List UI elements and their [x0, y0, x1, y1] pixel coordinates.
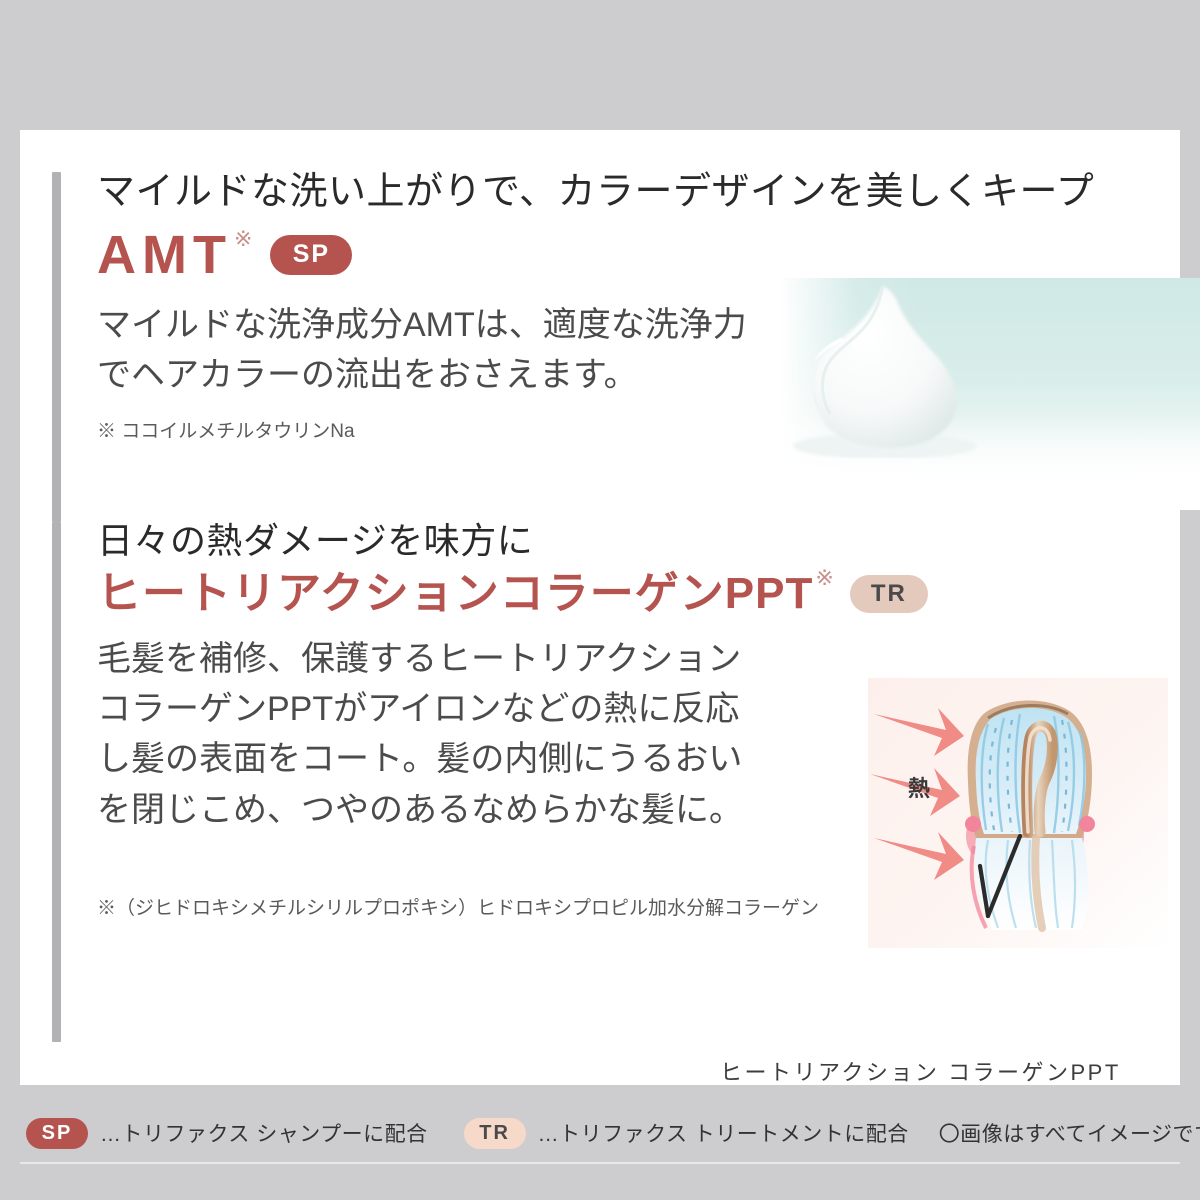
section-heat: 日々の熱ダメージを味方に ヒートリアクションコラーゲンPPT ※ TR 毛髪を補…: [52, 522, 1162, 1047]
body-line: を閉じこめ、つやのあるなめらかな髪に。: [97, 785, 1162, 835]
footer-legend: SP …トリファクス シャンプーに配合 TR …トリファクス トリートメントに配…: [0, 1105, 1200, 1161]
page-root: マイルドな洗い上がりで、カラーデザインを美しくキープ AMT ※ SP マイルド…: [0, 0, 1200, 1200]
section-accent-bar: [52, 522, 61, 1042]
content-card: マイルドな洗い上がりで、カラーデザインを美しくキープ AMT ※ SP マイルド…: [20, 130, 1180, 1085]
legend-item-sp: SP …トリファクス シャンプーに配合: [0, 1118, 428, 1149]
badge-tr-small: TR: [464, 1118, 526, 1149]
badge-tr: TR: [850, 575, 928, 613]
footer-note: 〇画像はすべてイメージです: [939, 1118, 1200, 1148]
section-heat-eyebrow: 日々の熱ダメージを味方に: [97, 522, 1162, 562]
legend-text-sp: …トリファクス シャンプーに配合: [100, 1118, 428, 1148]
hair-diagram-caption: ヒートリアクション コラーゲンPPT: [720, 1055, 1121, 1087]
section-heat-title-row: ヒートリアクションコラーゲンPPT ※ TR: [97, 572, 1162, 616]
reference-mark-icon: ※: [815, 565, 833, 591]
section-heat-title: ヒートリアクションコラーゲンPPT: [97, 572, 813, 616]
section-amt-body-text: マイルドな洗浄成分AMTは、適度な洗浄力 でヘアカラーの流出をおさえます。: [97, 300, 1162, 401]
legend-text-tr: …トリファクス トリートメントに配合: [538, 1118, 909, 1148]
legend-item-tr: TR …トリファクス トリートメントに配合: [428, 1118, 909, 1149]
section-accent-bar: [52, 172, 61, 522]
body-line: でヘアカラーの流出をおさえます。: [97, 350, 1162, 400]
footer-divider: [20, 1162, 1180, 1164]
reference-mark-icon: ※: [234, 226, 252, 252]
badge-sp: SP: [270, 235, 352, 275]
section-amt-title-row: AMT ※ SP: [97, 228, 1162, 282]
body-line: マイルドな洗浄成分AMTは、適度な洗浄力: [97, 300, 1162, 350]
section-heat-body-text: 毛髪を補修、保護するヒートリアクション コラーゲンPPTがアイロンなどの熱に反応…: [97, 634, 1162, 835]
body-line: し髪の表面をコート。髪の内側にうるおい: [97, 734, 1162, 784]
section-amt-title: AMT: [97, 228, 232, 282]
section-amt-eyebrow: マイルドな洗い上がりで、カラーデザインを美しくキープ: [97, 172, 1162, 214]
badge-sp-small: SP: [26, 1118, 88, 1149]
body-line: 毛髪を補修、保護するヒートリアクション: [97, 634, 1162, 684]
body-line: コラーゲンPPTがアイロンなどの熱に反応: [97, 684, 1162, 734]
